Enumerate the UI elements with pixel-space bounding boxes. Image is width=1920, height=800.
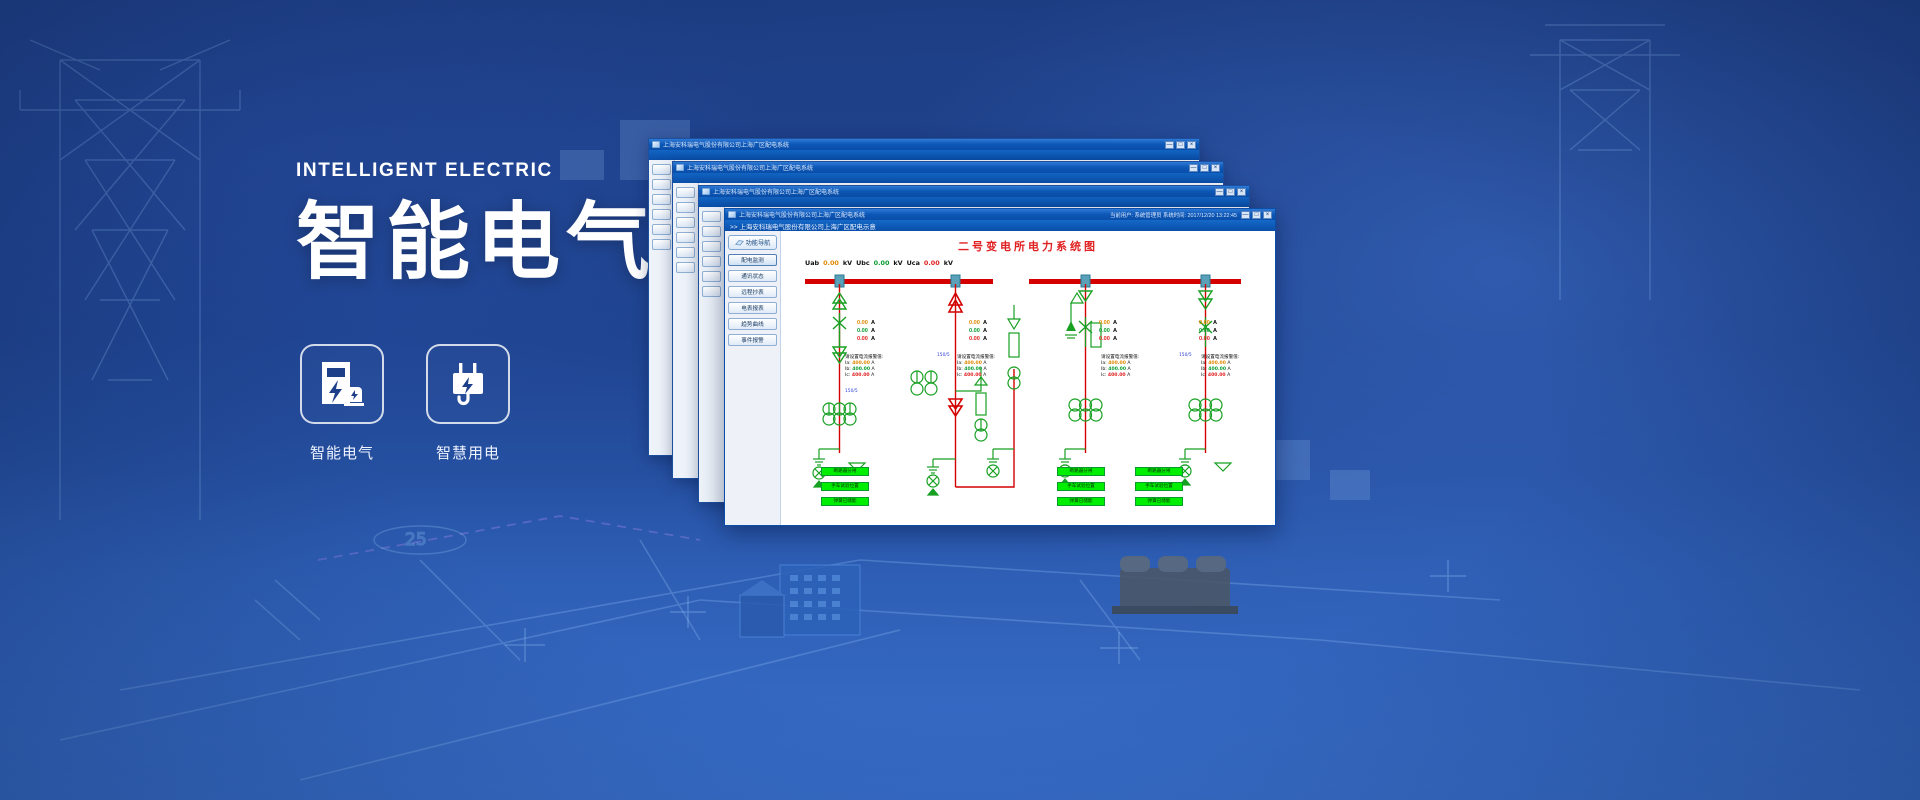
sidebar-item-remote-meter-reading[interactable]: 远程抄表 bbox=[728, 286, 777, 298]
status-badge-breaker-open[interactable]: 断路器分闸 bbox=[1057, 467, 1105, 476]
rail-button[interactable] bbox=[652, 194, 671, 205]
feature-icon-box bbox=[300, 344, 384, 424]
rail-button[interactable] bbox=[676, 232, 695, 243]
ct-ratio-2: 150/5 bbox=[937, 353, 950, 358]
setting-value: 400.00 bbox=[1208, 367, 1226, 372]
close-button[interactable]: × bbox=[1237, 188, 1246, 196]
close-button[interactable]: × bbox=[1263, 211, 1272, 219]
setting-name: Ic: bbox=[1101, 373, 1106, 378]
setting-unit: A bbox=[1128, 367, 1131, 372]
feeder-currents-3: 0.00 A 0.00 A 0.00 A bbox=[1099, 319, 1117, 343]
alarm-settings-3[interactable]: 请设置电流报警值: Ia: 400.00 A Ib: 400.00 A Ic: … bbox=[1101, 355, 1139, 379]
hero-eyebrow: INTELLIGENT ELECTRIC bbox=[296, 160, 656, 182]
current-phase-b: 0.00 bbox=[857, 328, 868, 334]
rail-button[interactable] bbox=[652, 209, 671, 220]
diagram-canvas[interactable]: 二号变电所电力系统图 Uab 0.00 kV Ubc 0.00 kV Uca 0… bbox=[781, 231, 1275, 525]
setting-name: Ib: bbox=[845, 367, 851, 372]
setting-value: 400.00 bbox=[964, 373, 982, 378]
window-controls[interactable]: — □ × bbox=[1189, 164, 1220, 172]
status-badge-truck-test-position[interactable]: 手车试验位置 bbox=[1057, 482, 1105, 491]
rail-button[interactable] bbox=[652, 179, 671, 190]
window-app-icon bbox=[728, 211, 736, 218]
sidebar-item-trend-curve[interactable]: 趋势曲线 bbox=[728, 318, 777, 330]
setting-value: 400.00 bbox=[852, 361, 870, 366]
window-app-icon bbox=[652, 141, 660, 148]
window-title-text: 上海安科瑞电气股份有限公司上海广区配电系统 bbox=[739, 210, 1110, 219]
feeder-currents-4: 0.00 A 0.00 A 0.00 A bbox=[1199, 319, 1217, 343]
status-badge-truck-test-position[interactable]: 手车试验位置 bbox=[821, 482, 869, 491]
window-side-rail[interactable] bbox=[699, 207, 725, 502]
window-side-rail[interactable] bbox=[673, 183, 699, 478]
window-titlebar[interactable]: 上海安科瑞电气股份有限公司上海广区配电系统 — □ × bbox=[649, 139, 1199, 150]
window-controls[interactable]: — □ × bbox=[1241, 211, 1272, 219]
voltage-label: Uca bbox=[907, 259, 920, 267]
setting-unit: A bbox=[1127, 361, 1130, 366]
window-title-text: 上海安科瑞电气股份有限公司上海广区配电系统 bbox=[713, 187, 1215, 196]
voltage-unit: kV bbox=[944, 259, 953, 267]
setting-value: 400.00 bbox=[852, 367, 870, 372]
rail-button[interactable] bbox=[702, 256, 721, 267]
window-subbar bbox=[699, 197, 1249, 207]
bay-3 bbox=[1059, 284, 1102, 485]
sidebar-item-comm-status[interactable]: 通讯状态 bbox=[728, 270, 777, 282]
setting-name: Ia: bbox=[845, 361, 851, 366]
current-phase-a: 0.00 bbox=[857, 320, 868, 326]
rail-button[interactable] bbox=[702, 226, 721, 237]
sidebar-item-meter-report[interactable]: 电表报表 bbox=[728, 302, 777, 314]
rail-button[interactable] bbox=[652, 224, 671, 235]
maximize-button[interactable]: □ bbox=[1226, 188, 1235, 196]
rail-button[interactable] bbox=[702, 286, 721, 297]
pt-bay bbox=[987, 305, 1020, 477]
close-button[interactable]: × bbox=[1211, 164, 1220, 172]
maximize-button[interactable]: □ bbox=[1200, 164, 1209, 172]
setting-value: 400.00 bbox=[1108, 373, 1126, 378]
rail-button[interactable] bbox=[676, 247, 695, 258]
current-phase-a: 0.00 bbox=[1099, 320, 1110, 326]
status-badge-spring-charged[interactable]: 弹簧已储能 bbox=[821, 497, 869, 506]
setting-name: Ic: bbox=[845, 373, 850, 378]
current-unit: A bbox=[1213, 328, 1217, 334]
setting-unit: A bbox=[1228, 367, 1231, 372]
minimize-button[interactable]: — bbox=[1189, 164, 1198, 172]
feature-icon-box bbox=[426, 344, 510, 424]
current-unit: A bbox=[871, 328, 875, 334]
sidebar-header: 功能导航 bbox=[728, 235, 777, 250]
close-button[interactable]: × bbox=[1187, 141, 1196, 149]
breadcrumb-text: >> 上海安科瑞电气股份有限公司上海广区配电示意 bbox=[730, 221, 876, 231]
setting-value: 400.00 bbox=[852, 373, 870, 378]
rail-button[interactable] bbox=[676, 262, 695, 273]
voltage-unit: kV bbox=[893, 259, 902, 267]
setting-unit: A bbox=[872, 367, 875, 372]
current-phase-c: 0.00 bbox=[1099, 336, 1110, 342]
rail-button[interactable] bbox=[702, 211, 721, 222]
setting-unit: A bbox=[1227, 373, 1230, 378]
current-phase-c: 0.00 bbox=[857, 336, 868, 342]
voltage-label: Uab bbox=[805, 259, 819, 267]
window-subbar bbox=[649, 150, 1199, 160]
minimize-button[interactable]: — bbox=[1241, 211, 1250, 219]
window-app-icon bbox=[676, 164, 684, 171]
current-unit: A bbox=[871, 336, 875, 342]
window-controls[interactable]: — □ × bbox=[1165, 141, 1196, 149]
status-badge-spring-charged[interactable]: 弹簧已储能 bbox=[1135, 497, 1183, 506]
setting-name: Ia: bbox=[1101, 361, 1107, 366]
window-subbar bbox=[673, 173, 1223, 183]
setting-name: Ia: bbox=[957, 361, 963, 366]
rail-button[interactable] bbox=[676, 217, 695, 228]
sidebar-item-label: 配电监测 bbox=[741, 256, 763, 264]
rail-button[interactable] bbox=[702, 271, 721, 282]
breadcrumb: >> 上海安科瑞电气股份有限公司上海广区配电示意 bbox=[725, 220, 1275, 231]
voltage-unit: kV bbox=[843, 259, 852, 267]
sidebar-item-event-alarm[interactable]: 事件报警 bbox=[728, 334, 777, 346]
window-titlebar[interactable]: 上海安科瑞电气股份有限公司上海广区配电系统 — □ × bbox=[673, 162, 1223, 173]
feature-item-intelligent-electric[interactable]: 智能电气 bbox=[300, 344, 384, 463]
current-phase-c: 0.00 bbox=[969, 336, 980, 342]
window-titlebar[interactable]: 上海安科瑞电气股份有限公司上海广区配电系统 — □ × bbox=[699, 186, 1249, 197]
bay-4 bbox=[1179, 284, 1231, 485]
window-titlebar[interactable]: 上海安科瑞电气股份有限公司上海广区配电系统 当前用户: 系统管理员 系统时间: … bbox=[725, 209, 1275, 220]
setting-unit: A bbox=[1127, 373, 1130, 378]
setting-name: Ib: bbox=[1101, 367, 1107, 372]
current-phase-b: 0.00 bbox=[1099, 328, 1110, 334]
sidebar-item-label: 电表报表 bbox=[741, 304, 763, 312]
minimize-button[interactable]: — bbox=[1165, 141, 1174, 149]
current-phase-a: 0.00 bbox=[969, 320, 980, 326]
maximize-button[interactable]: □ bbox=[1176, 141, 1185, 149]
feature-label: 智能电气 bbox=[310, 442, 374, 463]
status-badge-breaker-open[interactable]: 断路器分闸 bbox=[821, 467, 869, 476]
window-title-text: 上海安科瑞电气股份有限公司上海广区配电系统 bbox=[663, 140, 1165, 149]
maximize-button[interactable]: □ bbox=[1252, 211, 1261, 219]
setting-name: Ic: bbox=[957, 373, 962, 378]
window-body: 功能导航 配电监测 通讯状态 远程抄表 电表报表 趋势曲线 事件 bbox=[725, 231, 1275, 525]
current-unit: A bbox=[1113, 336, 1117, 342]
feeder-currents-1: 0.00 A 0.00 A 0.00 A bbox=[857, 319, 875, 343]
fuse bbox=[1009, 333, 1019, 357]
voltage-value: 0.00 bbox=[874, 259, 890, 267]
diagram-title: 二号变电所电力系统图 bbox=[781, 231, 1275, 254]
status-badge-truck-test-position[interactable]: 手车试验位置 bbox=[1135, 482, 1183, 491]
hero-copy: INTELLIGENT ELECTRIC 智能电气 bbox=[296, 160, 656, 286]
setting-name: Ib: bbox=[957, 367, 963, 372]
setting-name: Ia: bbox=[1201, 361, 1207, 366]
setting-value: 400.00 bbox=[1108, 367, 1126, 372]
minimize-button[interactable]: — bbox=[1215, 188, 1224, 196]
setting-value: 400.00 bbox=[1108, 361, 1126, 366]
busbar-left bbox=[805, 279, 993, 284]
feature-label: 智慧用电 bbox=[436, 442, 500, 463]
sidebar-item-label: 趋势曲线 bbox=[741, 320, 763, 328]
ct-ratio-1: 150/5 bbox=[845, 389, 858, 394]
status-badge-breaker-open[interactable]: 断路器分闸 bbox=[1135, 467, 1183, 476]
voltage-value: 0.00 bbox=[823, 259, 839, 267]
ct-ratio-4: 150/5 bbox=[1179, 353, 1192, 358]
alarm-settings-2[interactable]: 请设置电流报警值: Ia: 400.00 A Ib: 400.00 A Ic: … bbox=[957, 355, 995, 379]
setting-unit: A bbox=[871, 373, 874, 378]
window-title-text: 上海安科瑞电气股份有限公司上海广区配电系统 bbox=[687, 163, 1189, 172]
voltage-label: Ubc bbox=[856, 259, 870, 267]
current-unit: A bbox=[983, 336, 987, 342]
rail-button[interactable] bbox=[652, 239, 671, 250]
current-phase-b: 0.00 bbox=[1199, 328, 1210, 334]
sidebar-item-label: 事件报警 bbox=[741, 336, 763, 344]
voltage-value: 0.00 bbox=[924, 259, 940, 267]
sidebar-item-distribution-monitor[interactable]: 配电监测 bbox=[728, 254, 777, 266]
current-unit: A bbox=[1113, 328, 1117, 334]
setting-value: 400.00 bbox=[964, 361, 982, 366]
current-unit: A bbox=[1213, 336, 1217, 342]
page-title: 智能电气 bbox=[296, 198, 656, 286]
setting-unit: A bbox=[871, 361, 874, 366]
window-controls[interactable]: — □ × bbox=[1215, 188, 1246, 196]
bus-voltage-readout: Uab 0.00 kV Ubc 0.00 kV Uca 0.00 kV bbox=[781, 254, 1275, 267]
current-unit: A bbox=[983, 320, 987, 326]
current-phase-c: 0.00 bbox=[1199, 336, 1210, 342]
sidebar-header-label: 功能导航 bbox=[746, 238, 771, 247]
setting-name: Ic: bbox=[1201, 373, 1206, 378]
current-unit: A bbox=[871, 320, 875, 326]
feature-item-smart-power[interactable]: 智慧用电 bbox=[426, 344, 510, 463]
setting-name: Ib: bbox=[1201, 367, 1207, 372]
rail-button[interactable] bbox=[676, 187, 695, 198]
setting-value: 400.00 bbox=[964, 367, 982, 372]
current-unit: A bbox=[1213, 320, 1217, 326]
sidebar[interactable]: 功能导航 配电监测 通讯状态 远程抄表 电表报表 趋势曲线 事件 bbox=[725, 231, 781, 525]
sidebar-item-label: 通讯状态 bbox=[741, 272, 763, 280]
setting-unit: A bbox=[983, 373, 986, 378]
current-phase-b: 0.00 bbox=[969, 328, 980, 334]
rail-button[interactable] bbox=[652, 164, 671, 175]
power-plug-icon bbox=[444, 359, 492, 409]
setting-unit: A bbox=[984, 367, 987, 372]
rail-button[interactable] bbox=[676, 202, 695, 213]
sidebar-item-label: 远程抄表 bbox=[741, 288, 763, 296]
active-window[interactable]: 上海安科瑞电气股份有限公司上海广区配电系统 当前用户: 系统管理员 系统时间: … bbox=[724, 208, 1276, 526]
window-app-icon bbox=[702, 188, 710, 195]
current-unit: A bbox=[1113, 320, 1117, 326]
status-badge-spring-charged[interactable]: 弹簧已储能 bbox=[1057, 497, 1105, 506]
setting-value: 400.00 bbox=[1208, 361, 1226, 366]
current-phase-a: 0.00 bbox=[1199, 320, 1210, 326]
alarm-settings-1[interactable]: 请设置电流报警值: Ia: 400.00 A Ib: 400.00 A Ic: … bbox=[845, 355, 883, 379]
setting-unit: A bbox=[1227, 361, 1230, 366]
bay-1 bbox=[813, 284, 865, 487]
fuse bbox=[976, 393, 986, 415]
rail-button[interactable] bbox=[702, 241, 721, 252]
navigation-book-icon bbox=[735, 239, 744, 246]
charging-meter-icon bbox=[318, 359, 366, 409]
alarm-settings-4[interactable]: 请设置电流报警值: Ia: 400.00 A Ib: 400.00 A Ic: … bbox=[1201, 355, 1239, 379]
setting-value: 400.00 bbox=[1208, 373, 1226, 378]
window-session-info: 当前用户: 系统管理员 系统时间: 2017/12/20 13:22:45 bbox=[1110, 211, 1237, 219]
feeder-currents-2: 0.00 A 0.00 A 0.00 A bbox=[969, 319, 987, 343]
bay-2 bbox=[911, 284, 1014, 495]
setting-unit: A bbox=[983, 361, 986, 366]
current-unit: A bbox=[983, 328, 987, 334]
feature-list: 智能电气 智慧用电 bbox=[300, 344, 510, 463]
